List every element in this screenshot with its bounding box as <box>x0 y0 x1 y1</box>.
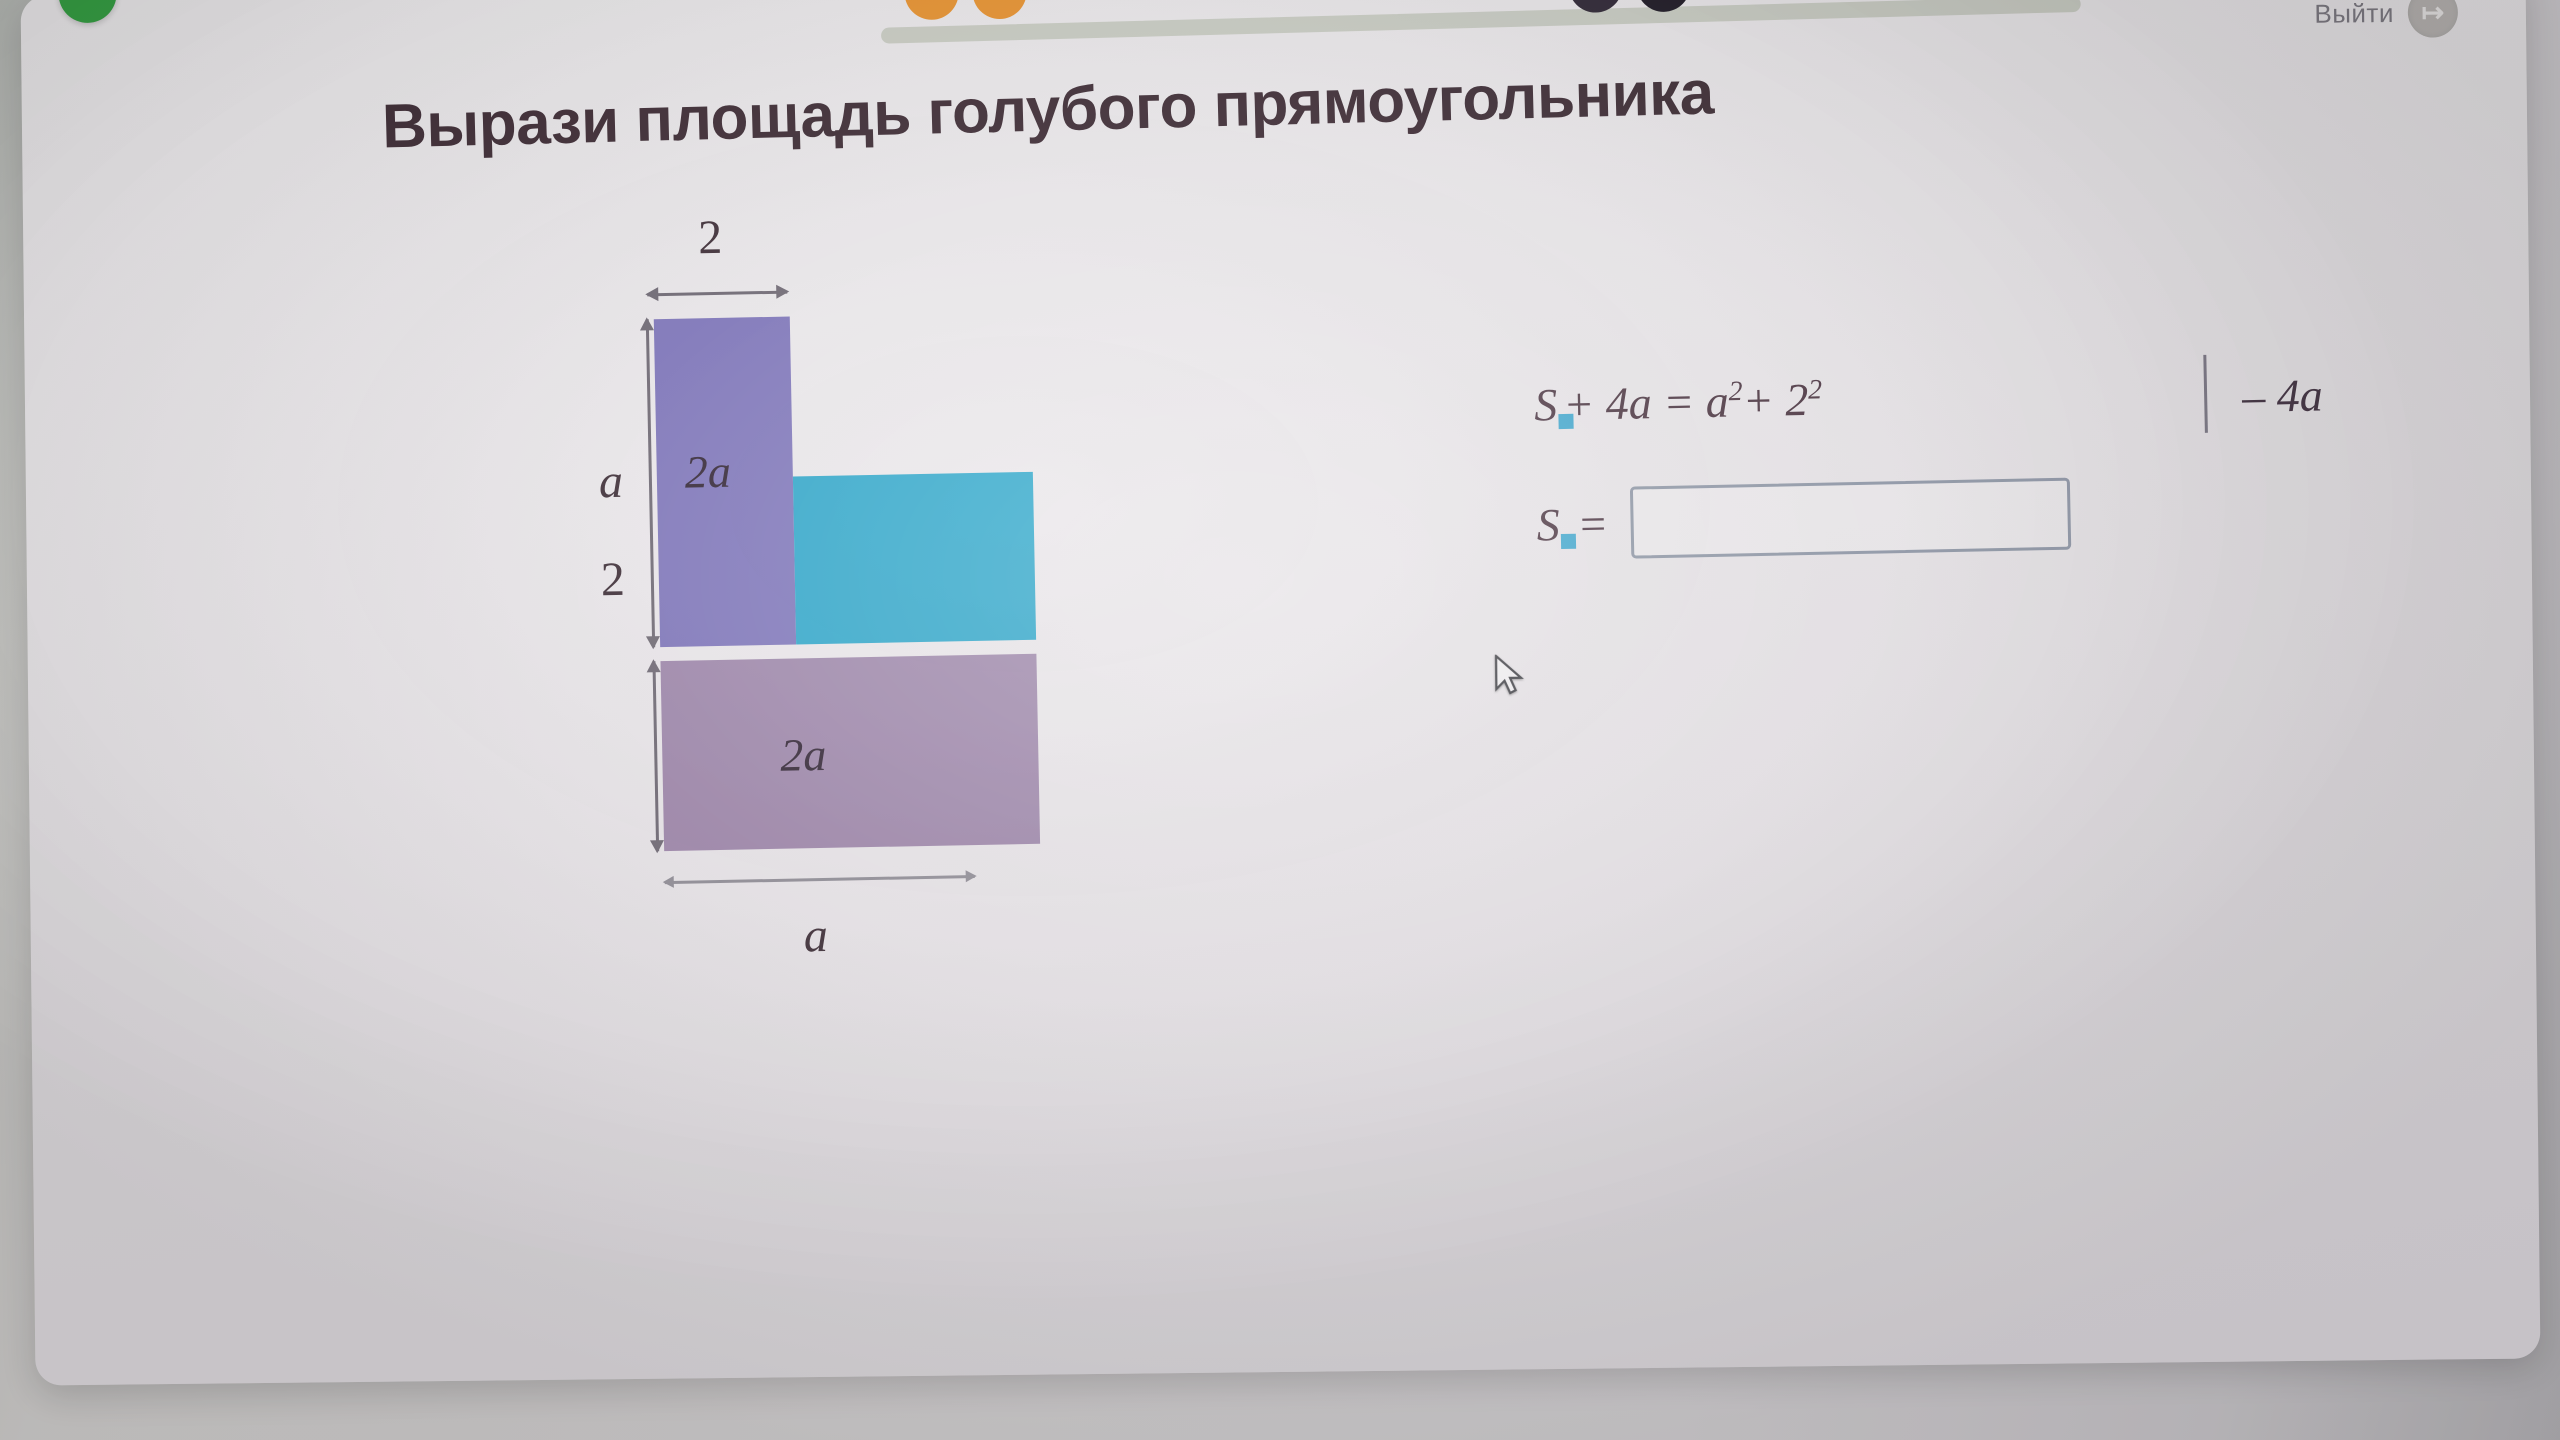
equation-line-1-plus: + 2 <box>1742 374 1809 426</box>
operation-hint: – 4a <box>2242 368 2324 423</box>
mauve-rectangle-label: 2a <box>780 728 827 782</box>
exit-button[interactable]: Выйти ↦ <box>2314 0 2458 39</box>
equals-sign: = <box>1577 498 1609 550</box>
equation-line-2: S = <box>1536 478 2071 561</box>
dimension-arrow-left-lower <box>652 661 659 851</box>
dimension-label-left-upper: a <box>598 454 623 509</box>
dimension-label-bottom: a <box>803 908 828 963</box>
dimension-label-top: 2 <box>698 210 723 265</box>
s-symbol-2: S <box>1536 499 1560 550</box>
dimension-arrow-bottom <box>665 875 975 884</box>
equation-panel: S+ 4a = a2+ 22 – 4a S = <box>1523 350 2448 629</box>
dimension-arrow-top <box>647 291 787 297</box>
dimension-label-left-lower: 2 <box>600 552 625 607</box>
mauve-rectangle[interactable] <box>660 654 1040 851</box>
operation-divider <box>2203 355 2208 433</box>
back-button-badge[interactable] <box>58 0 117 23</box>
answer-input[interactable] <box>1629 478 2070 559</box>
progress-dot-1[interactable] <box>904 0 959 20</box>
equation-line-1-rest: + 4a = a <box>1563 376 1730 430</box>
exit-door-icon: ↦ <box>2408 0 2459 38</box>
purple-rectangle-label: 2a <box>684 445 731 499</box>
equation-line-2-text: S = <box>1536 497 1609 551</box>
equation-line-1: S+ 4a = a2+ 22 <box>1534 373 1823 432</box>
mouse-pointer-icon <box>1493 654 1527 698</box>
exponent-1: 2 <box>1728 376 1743 407</box>
s-symbol-1: S <box>1534 379 1558 430</box>
exercise-card: Назад Выйти ↦ Вырази площадь голубого пр… <box>21 0 2541 1386</box>
cyan-rectangle[interactable] <box>793 472 1036 645</box>
geometry-figure: 2 a 2 2a 2a a <box>580 209 1294 953</box>
blue-square-subscript-1 <box>1558 414 1573 429</box>
page-title: Вырази площадь голубого прямоугольника <box>381 57 1714 162</box>
exit-button-label: Выйти <box>2314 0 2394 29</box>
back-button-label[interactable]: Назад <box>132 0 212 1</box>
progress-dot-2[interactable] <box>972 0 1027 19</box>
top-bar: Назад Выйти ↦ <box>21 0 2526 54</box>
exponent-2: 2 <box>1808 374 1823 405</box>
blue-square-subscript-2 <box>1561 533 1576 548</box>
equation-line-1-text: S+ 4a = a2+ 22 <box>1534 373 1823 432</box>
progress-bar <box>881 0 2081 44</box>
